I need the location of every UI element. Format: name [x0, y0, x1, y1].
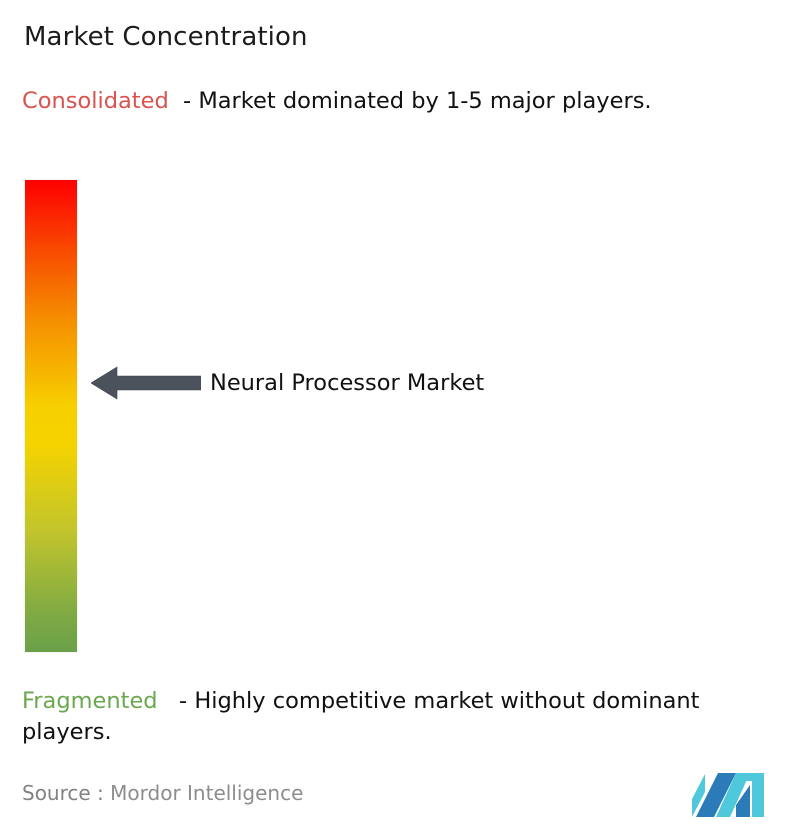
- page-title: Market Concentration: [24, 20, 308, 54]
- legend-separator-bottom: -: [158, 688, 195, 714]
- legend-term-fragmented: Fragmented: [22, 688, 158, 714]
- legend-description-consolidated: Market dominated by 1-5 major players.: [198, 88, 651, 114]
- source-name: Mordor Intelligence: [110, 781, 303, 805]
- mordor-intelligence-logo-icon: [692, 769, 764, 817]
- source-attribution: Source : Mordor Intelligence: [22, 779, 303, 807]
- market-concentration-chart: Market Concentration Consolidated - Mark…: [0, 0, 796, 834]
- market-pointer-label: Neural Processor Market: [210, 368, 484, 398]
- source-label: Source :: [22, 781, 110, 805]
- legend-consolidated: Consolidated - Market dominated by 1-5 m…: [22, 86, 790, 117]
- legend-term-consolidated: Consolidated: [22, 88, 169, 114]
- market-pointer-arrow: [91, 364, 201, 402]
- legend-separator-top: -: [169, 88, 199, 114]
- legend-fragmented: Fragmented - Highly competitive market w…: [22, 686, 790, 748]
- concentration-gradient-bar: [25, 180, 77, 652]
